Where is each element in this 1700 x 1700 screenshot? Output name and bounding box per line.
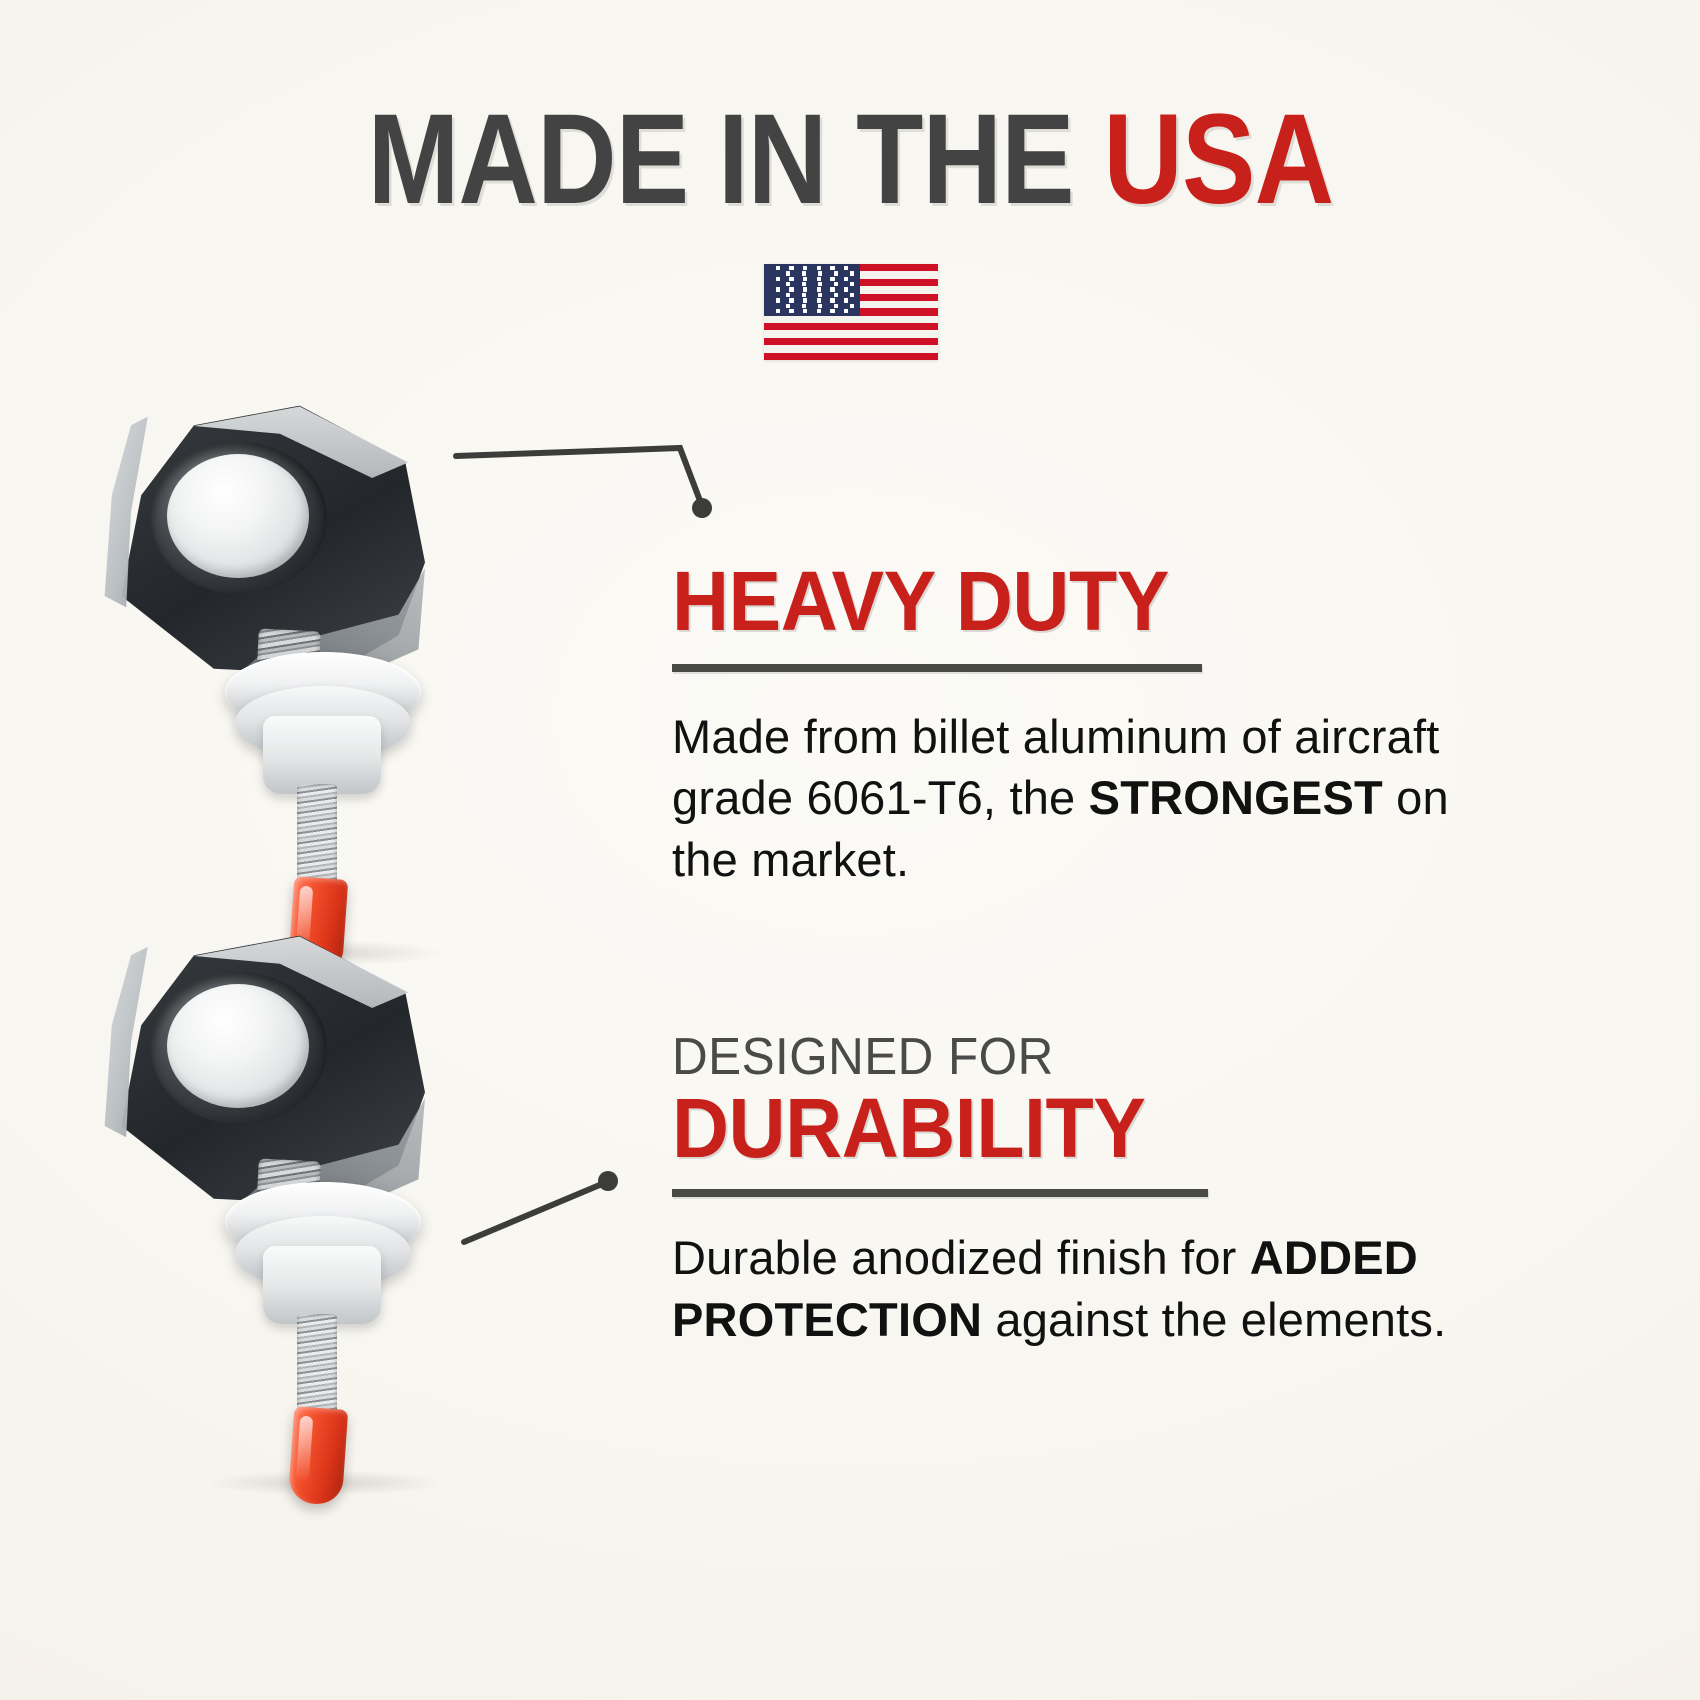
flag-star xyxy=(786,304,790,308)
flag-star xyxy=(776,277,780,281)
title-prefix: MADE IN THE xyxy=(367,88,1103,231)
feature-block-heavy-duty: HEAVY DUTY Made from billet aluminum of … xyxy=(672,560,1492,890)
flag-star xyxy=(844,277,848,281)
flag-star xyxy=(786,271,790,275)
flag-star xyxy=(789,266,793,270)
flag-star xyxy=(844,287,848,291)
flag-star xyxy=(776,287,780,291)
flag-star xyxy=(817,309,821,313)
flag-star xyxy=(802,271,806,275)
flag-star xyxy=(817,277,821,281)
flag-star xyxy=(844,298,848,302)
flag-star xyxy=(850,271,854,275)
flag-star xyxy=(830,298,834,302)
flag-star xyxy=(817,287,821,291)
feature-body-durability: Durable anodized finish for ADDED PROTEC… xyxy=(672,1227,1462,1349)
flag-star xyxy=(830,277,834,281)
flag-star xyxy=(850,282,854,286)
feature-divider xyxy=(672,1189,1208,1197)
page-title: MADE IN THE USA xyxy=(0,96,1700,224)
feature-body-heavy-duty: Made from billet aluminum of aircraft gr… xyxy=(672,706,1462,889)
flag-star xyxy=(803,277,807,281)
flag-star xyxy=(817,298,821,302)
infographic-stage: MADE IN THE USA xyxy=(0,0,1700,1700)
flag-star xyxy=(802,282,806,286)
flag-star xyxy=(776,298,780,302)
feature-headline-heavy-duty: HEAVY DUTY xyxy=(672,560,1443,642)
flag-star xyxy=(844,266,848,270)
axle-bore-inner xyxy=(167,984,309,1108)
flag-star xyxy=(776,309,780,313)
us-flag-icon xyxy=(764,264,938,360)
flag-star xyxy=(803,266,807,270)
flag-star xyxy=(803,287,807,291)
body-tail: against the elements. xyxy=(982,1293,1446,1346)
flag-star xyxy=(817,266,821,270)
flag-star xyxy=(802,293,806,297)
flag-star xyxy=(789,287,793,291)
flag-star xyxy=(789,309,793,313)
flag-star xyxy=(834,282,838,286)
feature-headline-durability: DURABILITY xyxy=(672,1087,1443,1169)
flag-star xyxy=(830,287,834,291)
bolt-hub xyxy=(263,716,381,794)
bolt-hub xyxy=(263,1246,381,1324)
body-emphasis: STRONGEST xyxy=(1089,771,1383,824)
flag-star xyxy=(786,282,790,286)
flag-stars xyxy=(764,264,860,316)
feature-divider xyxy=(672,664,1202,672)
flag-star xyxy=(786,293,790,297)
flag-star xyxy=(789,298,793,302)
axle-bore-inner xyxy=(167,454,309,578)
flag-star xyxy=(789,277,793,281)
flag-star xyxy=(834,293,838,297)
made-in-usa-title: MADE IN THE USA xyxy=(367,96,1333,224)
flag-star xyxy=(830,266,834,270)
flag-star xyxy=(850,293,854,297)
flag-star xyxy=(844,309,848,313)
feature-eyebrow-designed-for: DESIGNED FOR xyxy=(672,1030,1451,1085)
flag-star xyxy=(803,298,807,302)
flag-star xyxy=(776,266,780,270)
flag-star xyxy=(803,309,807,313)
flag-star xyxy=(850,304,854,308)
flag-star xyxy=(818,293,822,297)
flag-star xyxy=(818,304,822,308)
callout-leader-line-top xyxy=(440,430,730,530)
flag-star xyxy=(834,271,838,275)
flag-star xyxy=(818,282,822,286)
flag-star xyxy=(802,304,806,308)
title-accent-usa: USA xyxy=(1103,88,1333,231)
body-lead: Durable anodized finish for xyxy=(672,1231,1250,1284)
flag-star xyxy=(830,309,834,313)
callout-leader-line-bottom xyxy=(450,1160,640,1260)
feature-block-durability: DESIGNED FOR DURABILITY Durable anodized… xyxy=(672,1030,1492,1350)
flag-star xyxy=(818,271,822,275)
flag-star xyxy=(834,304,838,308)
